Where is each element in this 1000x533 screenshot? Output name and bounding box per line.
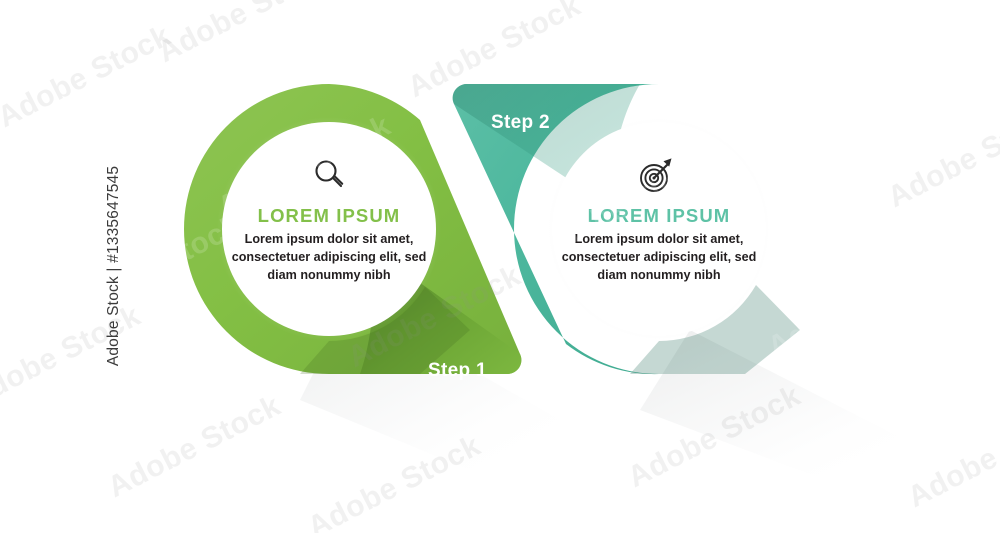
step-1-text-block: LOREM IPSUM Lorem ipsum dolor sit amet, …	[224, 206, 434, 285]
step-1-body: Lorem ipsum dolor sit amet, consectetuer…	[224, 231, 434, 285]
step-2-title: LOREM IPSUM	[554, 206, 764, 226]
stock-id-watermark: Adobe Stock | #1335647545	[105, 166, 123, 366]
step-2-body: Lorem ipsum dolor sit amet, consectetuer…	[554, 231, 764, 285]
step-2-text-block: LOREM IPSUM Lorem ipsum dolor sit amet, …	[554, 206, 764, 285]
infographic-canvas: LOREM IPSUM Lorem ipsum dolor sit amet, …	[0, 0, 1000, 533]
step-1-label[interactable]: Step 1	[428, 360, 487, 382]
infographic-svg	[0, 0, 1000, 533]
step-2-label[interactable]: Step 2	[491, 112, 550, 134]
step-1-title: LOREM IPSUM	[224, 206, 434, 226]
